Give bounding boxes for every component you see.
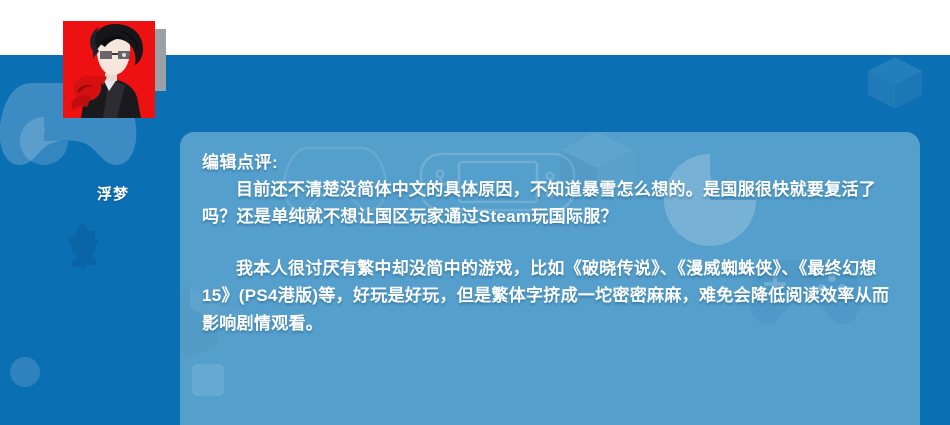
comment-paragraph-2: 我本人很讨厌有繁中却没简中的游戏，比如《破晓传说》、《漫威蜘蛛侠》、《最终幻想1…	[202, 255, 898, 338]
editor-comment-panel: 编辑点评: 目前还不清楚没简体中文的具体原因，不知道暴雪怎么想的。是国服很快就要…	[180, 132, 920, 425]
avatar-image[interactable]	[63, 21, 155, 118]
pacman-icon	[18, 115, 70, 167]
editor-comment-title: 编辑点评:	[202, 150, 898, 176]
screenshot-root: 编辑点评: 目前还不清楚没简体中文的具体原因，不知道暴雪怎么想的。是国服很快就要…	[0, 0, 950, 425]
comment-paragraph-1: 目前还不清楚没简体中文的具体原因，不知道暴雪怎么想的。是国服很快就要复活了吗？还…	[202, 176, 898, 231]
puzzle-icon	[188, 360, 228, 405]
paragraph-spacer	[202, 231, 898, 255]
puzzle-icon	[63, 223, 113, 271]
iso-block-icon	[860, 55, 930, 113]
puzzle-icon	[8, 355, 42, 389]
avatar[interactable]	[63, 21, 155, 118]
comment-text-block: 编辑点评: 目前还不清楚没简体中文的具体原因，不知道暴雪怎么想的。是国服很快就要…	[180, 132, 920, 337]
avatar-side-bar	[155, 29, 166, 91]
username-label: 浮梦	[63, 183, 163, 204]
